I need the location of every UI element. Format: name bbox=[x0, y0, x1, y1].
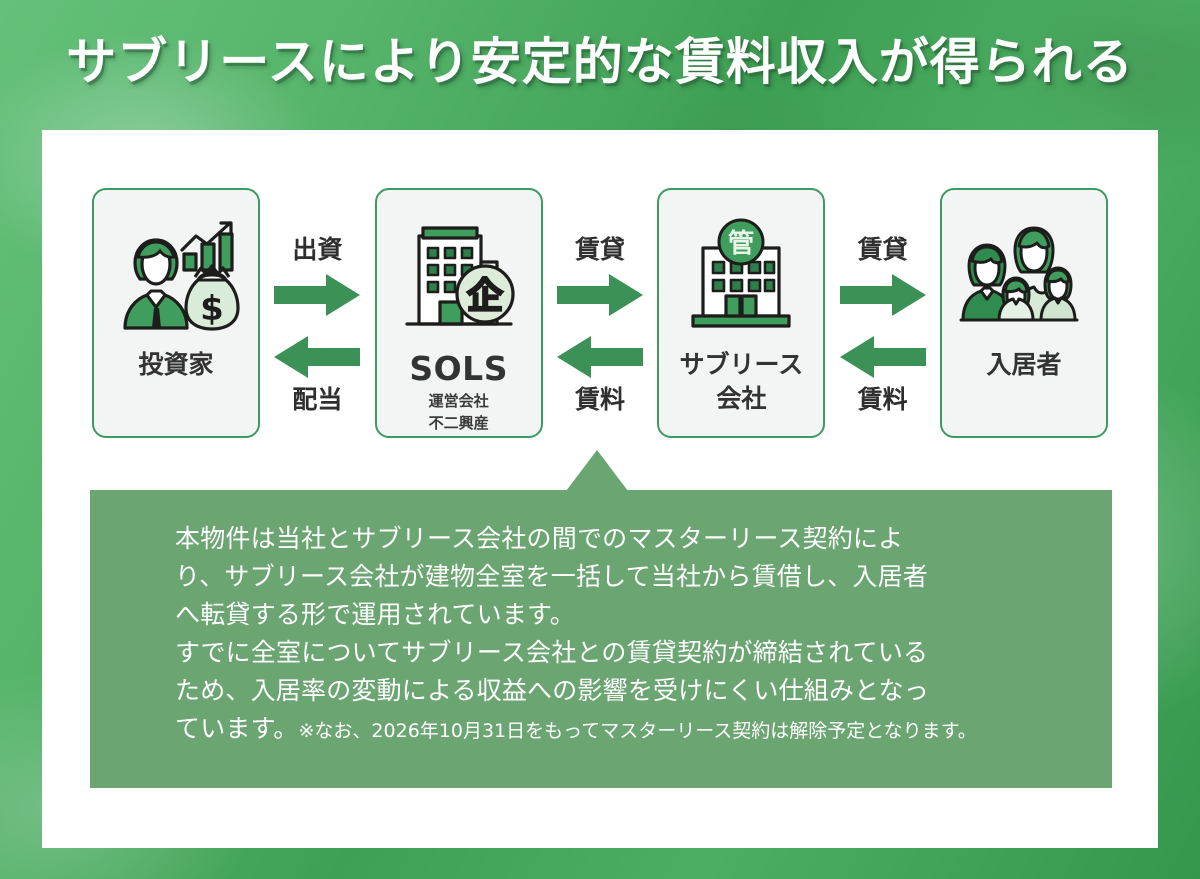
flow-node-label: 入居者 bbox=[987, 350, 1062, 380]
family-group-icon bbox=[959, 206, 1089, 346]
flow-node-label: SOLS bbox=[409, 350, 508, 389]
flow-node-label-line2: 会社 bbox=[716, 384, 766, 414]
flow-node-label-line1: サブリース bbox=[679, 350, 803, 380]
flow-diagram: $ 投資家 出資 配当 bbox=[92, 188, 1108, 438]
note-annotation: ※なお、2026年10月31日をもってマスターリース契約は解除予定となります。 bbox=[299, 720, 977, 742]
connection-backward-label: 配当 bbox=[260, 380, 375, 416]
flow-node-sublease-company[interactable]: 管 サブリース 会社 bbox=[657, 188, 825, 438]
flow-node-sols[interactable]: 企 SOLS 運営会社 不二興産 bbox=[375, 188, 543, 438]
arrow-right-icon bbox=[557, 274, 643, 316]
svg-text:管: 管 bbox=[728, 228, 754, 259]
building-management-badge-icon: 管 bbox=[679, 206, 803, 346]
note-line: 本物件は当社とサブリース会社の間でのマスターリース契約によ bbox=[175, 520, 1135, 558]
flow-node-investor[interactable]: $ 投資家 bbox=[92, 188, 260, 438]
note-line: すでに全室についてサブリース会社との賃貸契約が締結されている bbox=[175, 634, 1135, 672]
arrow-left-icon bbox=[557, 336, 643, 378]
poster-root: サブリースにより安定的な賃料収入が得られる bbox=[0, 0, 1200, 879]
flow-node-tenant[interactable]: 入居者 bbox=[940, 188, 1108, 438]
note-line-main: ています。 bbox=[175, 714, 299, 743]
note-text-block: 本物件は当社とサブリース会社の間でのマスターリース契約によ り、サブリース会社が… bbox=[175, 520, 1135, 748]
svg-text:$: $ bbox=[200, 289, 224, 329]
flow-node-label: 投資家 bbox=[138, 350, 213, 380]
flow-node-sub-line1: 運営会社 bbox=[429, 391, 489, 411]
connection-forward-label: 出資 bbox=[260, 230, 375, 266]
arrow-left-icon bbox=[840, 336, 926, 378]
note-pointer-triangle bbox=[566, 450, 628, 491]
note-line: へ転貸する形で運用されています。 bbox=[175, 596, 1135, 634]
office-building-company-badge-icon: 企 bbox=[397, 206, 521, 346]
note-panel: 本物件は当社とサブリース会社の間でのマスターリース契約によ り、サブリース会社が… bbox=[90, 490, 1112, 788]
connection-forward-label: 賃貸 bbox=[543, 230, 658, 266]
arrow-right-icon bbox=[274, 274, 360, 316]
note-line-with-annotation: ています。※なお、2026年10月31日をもってマスターリース契約は解除予定とな… bbox=[175, 710, 1135, 748]
svg-text:企: 企 bbox=[467, 276, 503, 317]
note-line: ため、入居率の変動による収益への影響を受けにくい仕組みとなっ bbox=[175, 672, 1135, 710]
connection-forward-label: 賃貸 bbox=[825, 230, 940, 266]
page-title: サブリースにより安定的な賃料収入が得られる bbox=[66, 22, 1134, 94]
flow-node-sub-line2: 不二興産 bbox=[429, 413, 489, 433]
page-title-bar: サブリースにより安定的な賃料収入が得られる bbox=[0, 22, 1200, 94]
flow-connection-investor-sols: 出資 配当 bbox=[260, 188, 375, 438]
investor-chart-moneybag-icon: $ bbox=[112, 206, 240, 346]
content-card: $ 投資家 出資 配当 bbox=[42, 130, 1158, 848]
arrow-left-icon bbox=[274, 336, 360, 378]
connection-backward-label: 賃料 bbox=[543, 380, 658, 416]
flow-connection-sols-sublease: 賃貸 賃料 bbox=[543, 188, 658, 438]
connection-backward-label: 賃料 bbox=[825, 380, 940, 416]
flow-connection-sublease-tenant: 賃貸 賃料 bbox=[825, 188, 940, 438]
arrow-right-icon bbox=[840, 274, 926, 316]
note-line: り、サブリース会社が建物全室を一括して当社から賃借し、入居者 bbox=[175, 558, 1135, 596]
